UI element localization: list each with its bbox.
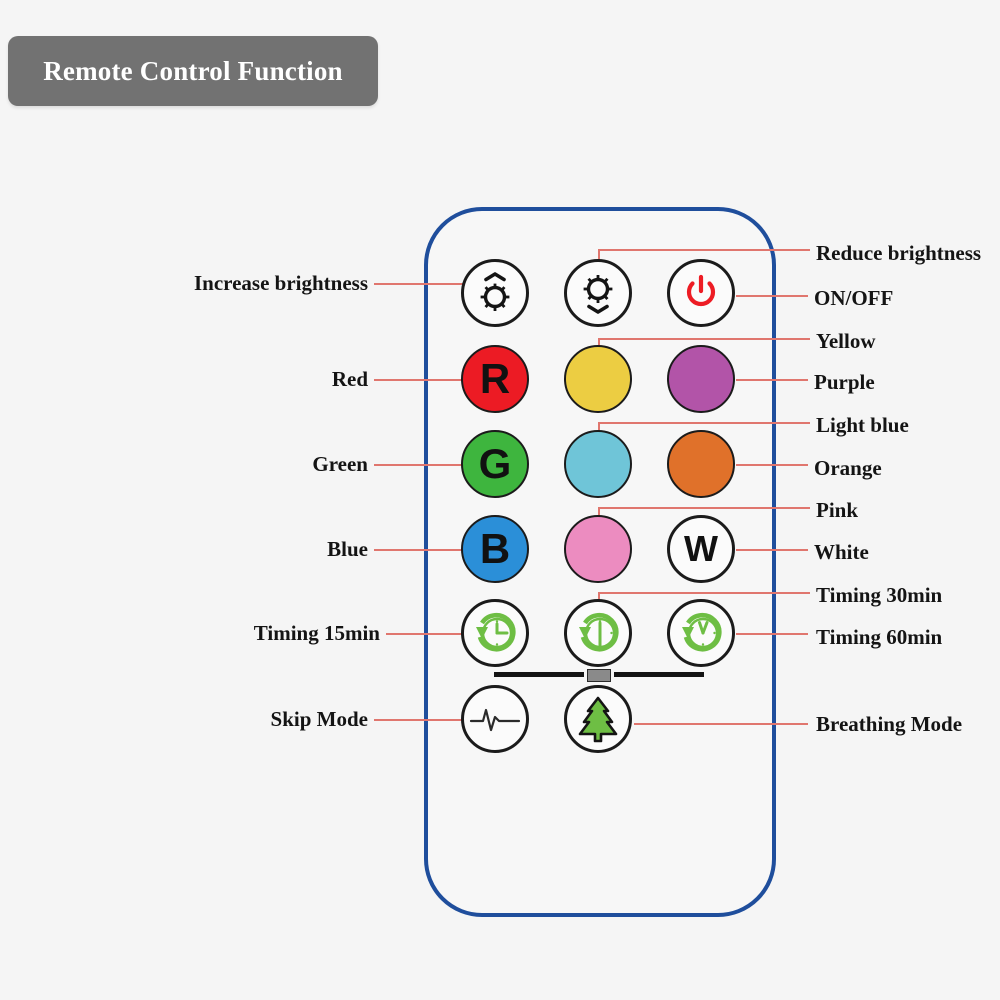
label-increase-brightness: Increase brightness: [0, 273, 368, 294]
label-green: Green: [0, 454, 368, 475]
label-on-off: ON/OFF: [814, 288, 893, 309]
button-white-letter: W: [684, 531, 718, 567]
button-orange[interactable]: [667, 430, 735, 498]
button-yellow[interactable]: [564, 345, 632, 413]
label-pink: Pink: [816, 500, 858, 521]
clock-60-icon: [675, 607, 727, 659]
button-timing-15min[interactable]: [461, 599, 529, 667]
button-red[interactable]: R: [461, 345, 529, 413]
page-title: Remote Control Function: [43, 56, 343, 87]
button-purple[interactable]: [667, 345, 735, 413]
label-yellow: Yellow: [816, 331, 876, 352]
brightness-up-icon: [472, 270, 518, 316]
pulse-icon: [469, 699, 521, 739]
clock-15-icon: [469, 607, 521, 659]
button-timing-60min[interactable]: [667, 599, 735, 667]
button-increase-brightness[interactable]: [461, 259, 529, 327]
button-timing-30min[interactable]: [564, 599, 632, 667]
brightness-down-icon: [575, 270, 621, 316]
page-title-banner: Remote Control Function: [8, 36, 378, 106]
button-blue[interactable]: B: [461, 515, 529, 583]
button-breathing-mode[interactable]: [564, 685, 632, 753]
label-reduce-brightness: Reduce brightness: [816, 243, 981, 264]
power-icon: [681, 273, 721, 313]
label-skip-mode: Skip Mode: [0, 709, 368, 730]
button-pink[interactable]: [564, 515, 632, 583]
label-breathing-mode: Breathing Mode: [816, 714, 962, 735]
label-timing-30min: Timing 30min: [816, 585, 942, 606]
label-timing-15min: Timing 15min: [0, 623, 380, 644]
button-on-off[interactable]: [667, 259, 735, 327]
label-white: White: [814, 542, 869, 563]
tree-icon: [575, 695, 621, 743]
label-purple: Purple: [814, 372, 875, 393]
label-light-blue: Light blue: [816, 415, 909, 436]
label-blue: Blue: [0, 539, 368, 560]
button-blue-letter: B: [480, 528, 510, 570]
button-green[interactable]: G: [461, 430, 529, 498]
button-white[interactable]: W: [667, 515, 735, 583]
button-light-blue[interactable]: [564, 430, 632, 498]
clock-30-icon: [572, 607, 624, 659]
label-timing-60min: Timing 60min: [816, 627, 942, 648]
button-red-letter: R: [480, 358, 510, 400]
button-skip-mode[interactable]: [461, 685, 529, 753]
label-red: Red: [0, 369, 368, 390]
button-reduce-brightness[interactable]: [564, 259, 632, 327]
label-orange: Orange: [814, 458, 882, 479]
button-green-letter: G: [479, 443, 512, 485]
